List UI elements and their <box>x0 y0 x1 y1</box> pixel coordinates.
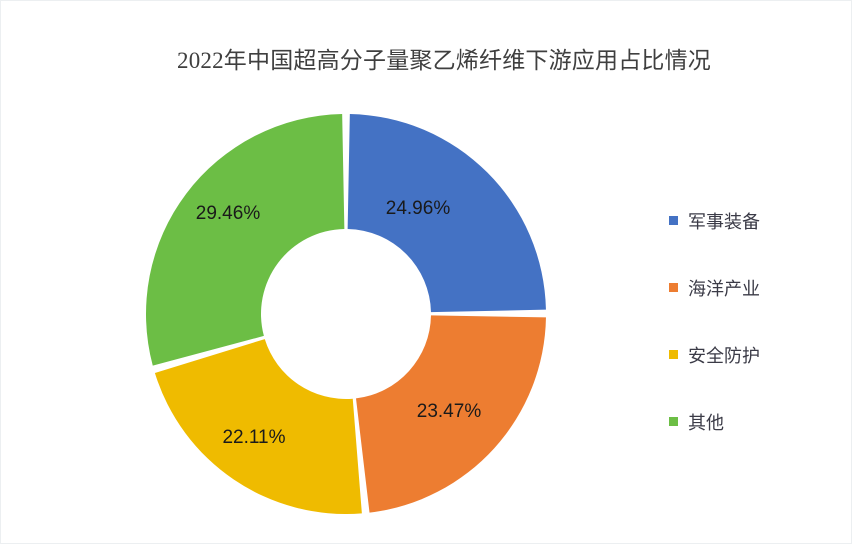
legend-item-military[interactable]: 军事装备 <box>669 187 829 254</box>
legend-item-label: 安全防护 <box>688 342 760 368</box>
donut-chart-svg <box>146 114 546 514</box>
chart-legend: 军事装备 海洋产业 安全防护 其他 <box>669 187 829 455</box>
legend-item-label: 军事装备 <box>688 208 760 234</box>
donut-slice[interactable] <box>348 114 546 312</box>
donut-chart: 24.96% 23.47% 22.11% 29.46% <box>146 114 546 514</box>
legend-item-safety[interactable]: 安全防护 <box>669 321 829 388</box>
legend-swatch-icon <box>669 350 678 359</box>
legend-swatch-icon <box>669 283 678 292</box>
legend-item-other[interactable]: 其他 <box>669 388 829 455</box>
donut-slice[interactable] <box>356 315 546 512</box>
donut-slice[interactable] <box>155 339 362 514</box>
legend-swatch-icon <box>669 216 678 225</box>
donut-slices <box>146 114 546 514</box>
legend-swatch-icon <box>669 417 678 426</box>
legend-item-label: 其他 <box>688 409 724 435</box>
chart-canvas: 2022年中国超高分子量聚乙烯纤维下游应用占比情况 24.96% 23.47% … <box>0 0 852 544</box>
legend-item-marine[interactable]: 海洋产业 <box>669 254 829 321</box>
chart-title: 2022年中国超高分子量聚乙烯纤维下游应用占比情况 <box>1 41 852 75</box>
chart-title-text: 2022年中国超高分子量聚乙烯纤维下游应用占比情况 <box>177 41 711 75</box>
donut-slice[interactable] <box>146 114 344 366</box>
legend-item-label: 海洋产业 <box>688 275 760 301</box>
